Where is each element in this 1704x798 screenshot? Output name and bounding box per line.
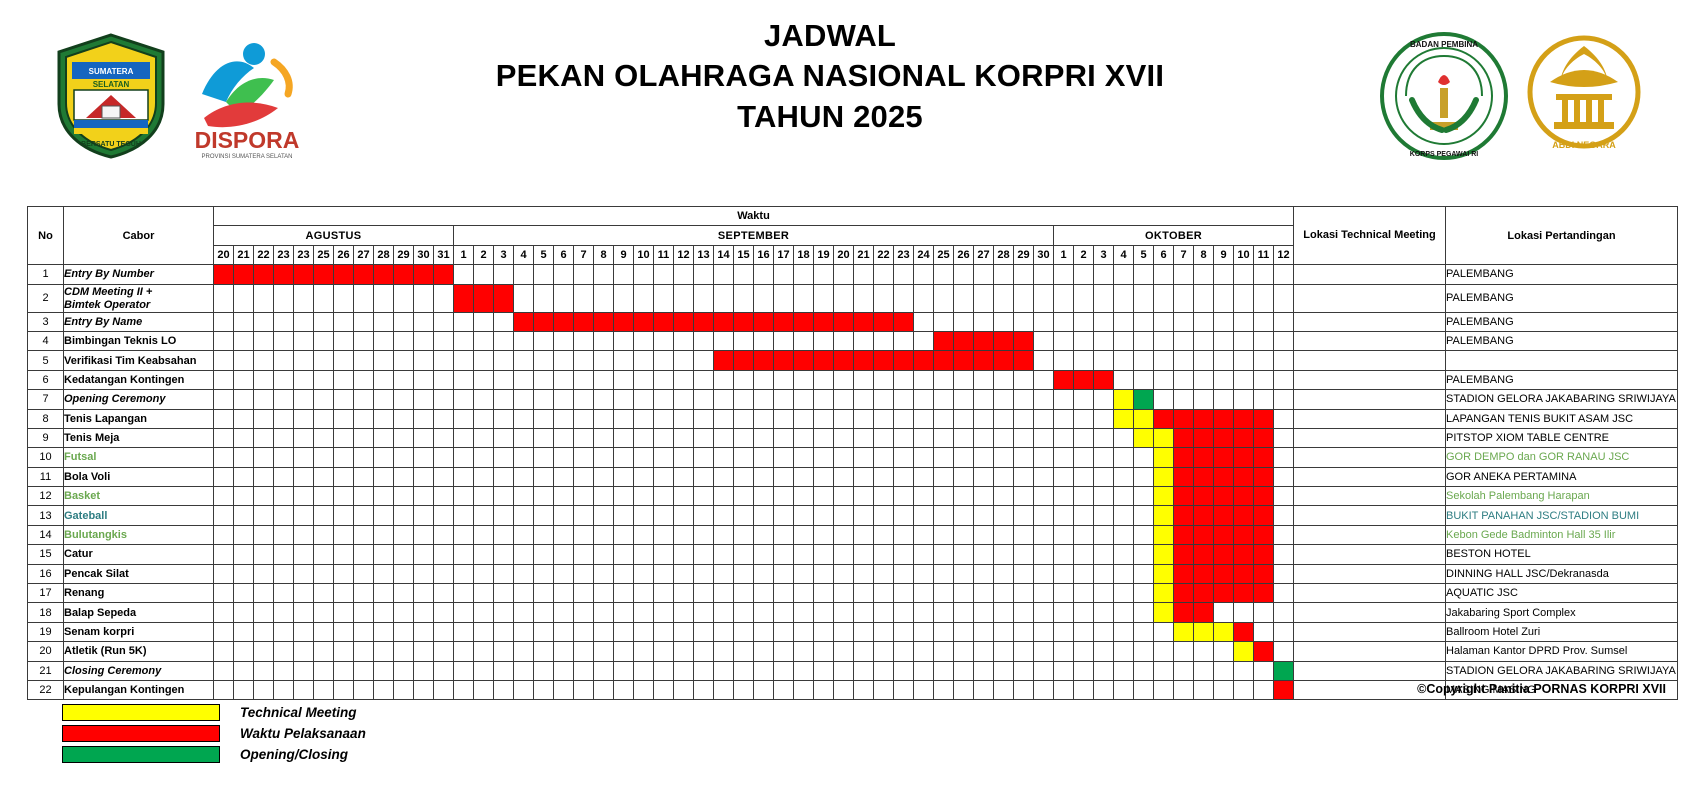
schedule-cell-empty	[914, 545, 934, 564]
schedule-cell-empty	[1094, 331, 1114, 350]
schedule-cell-empty	[414, 467, 434, 486]
table-row: 19 Senam korpriBallroom Hotel Zuri	[28, 622, 1678, 641]
schedule-cell-red	[214, 265, 234, 284]
schedule-cell-yellow	[1134, 409, 1154, 428]
schedule-cell-empty	[594, 448, 614, 467]
schedule-cell-empty	[734, 545, 754, 564]
schedule-cell-empty	[674, 265, 694, 284]
schedule-cell-yellow	[1114, 409, 1134, 428]
cell-lokasi-pertandingan: PALEMBANG	[1446, 284, 1678, 312]
schedule-cell-empty	[734, 525, 754, 544]
svg-text:SELATAN: SELATAN	[93, 80, 130, 89]
schedule-cell-empty	[1114, 351, 1134, 370]
schedule-cell-empty	[1194, 312, 1214, 331]
schedule-cell-empty	[374, 564, 394, 583]
schedule-cell-empty	[334, 467, 354, 486]
table-row: 7Opening CeremonySTADION GELORA JAKABARI…	[28, 390, 1678, 409]
cell-cabor: Tenis Meja	[64, 428, 214, 447]
day-header: 1	[1054, 245, 1074, 264]
schedule-cell-empty	[334, 680, 354, 699]
schedule-cell-empty	[694, 603, 714, 622]
schedule-cell-empty	[214, 390, 234, 409]
table-row: 4Bimbingan Teknis LOPALEMBANG	[28, 331, 1678, 350]
day-header: 12	[674, 245, 694, 264]
schedule-cell-empty	[214, 680, 234, 699]
schedule-cell-empty	[274, 428, 294, 447]
schedule-cell-empty	[234, 370, 254, 389]
schedule-cell-empty	[1034, 603, 1054, 622]
schedule-cell-empty	[934, 564, 954, 583]
cell-cabor: Atletik (Run 5K)	[64, 642, 214, 661]
schedule-cell-empty	[954, 448, 974, 467]
schedule-cell-empty	[854, 265, 874, 284]
schedule-cell-empty	[1094, 351, 1114, 370]
schedule-cell-empty	[294, 622, 314, 641]
schedule-cell-empty	[774, 428, 794, 447]
schedule-cell-yellow	[1154, 603, 1174, 622]
schedule-cell-empty	[634, 622, 654, 641]
schedule-cell-empty	[954, 284, 974, 312]
table-row: 6Kedatangan KontingenPALEMBANG	[28, 370, 1678, 389]
schedule-cell-red	[1194, 448, 1214, 467]
schedule-cell-empty	[414, 312, 434, 331]
cell-lokasi-technical-meeting	[1294, 370, 1446, 389]
schedule-cell-empty	[634, 584, 654, 603]
schedule-cell-empty	[354, 370, 374, 389]
schedule-cell-empty	[814, 265, 834, 284]
cell-lokasi-pertandingan: PALEMBANG	[1446, 331, 1678, 350]
schedule-cell-yellow	[1214, 622, 1234, 641]
schedule-cell-empty	[994, 584, 1014, 603]
day-header: 25	[934, 245, 954, 264]
schedule-cell-empty	[634, 564, 654, 583]
schedule-cell-empty	[894, 506, 914, 525]
abdi-negara-korpri-logo: ABDI NEGARA	[1520, 32, 1648, 160]
schedule-cell-empty	[874, 584, 894, 603]
schedule-cell-empty	[534, 390, 554, 409]
schedule-cell-empty	[754, 467, 774, 486]
schedule-cell-empty	[614, 680, 634, 699]
schedule-cell-empty	[214, 661, 234, 680]
cell-lokasi-pertandingan: PALEMBANG	[1446, 312, 1678, 331]
schedule-cell-empty	[974, 265, 994, 284]
schedule-cell-red	[554, 312, 574, 331]
schedule-cell-empty	[354, 680, 374, 699]
schedule-cell-empty	[234, 525, 254, 544]
schedule-cell-empty	[434, 428, 454, 447]
schedule-cell-empty	[534, 487, 554, 506]
schedule-cell-empty	[1054, 265, 1074, 284]
schedule-cell-empty	[974, 584, 994, 603]
schedule-cell-empty	[334, 370, 354, 389]
schedule-cell-empty	[334, 331, 354, 350]
schedule-cell-empty	[1094, 428, 1114, 447]
schedule-cell-empty	[474, 467, 494, 486]
schedule-cell-empty	[1274, 467, 1294, 486]
cell-lokasi-technical-meeting	[1294, 331, 1446, 350]
schedule-cell-empty	[314, 312, 334, 331]
schedule-cell-empty	[1234, 661, 1254, 680]
schedule-cell-empty	[1094, 284, 1114, 312]
cell-cabor: Renang	[64, 584, 214, 603]
schedule-cell-empty	[814, 331, 834, 350]
day-header: 27	[974, 245, 994, 264]
schedule-cell-empty	[1014, 525, 1034, 544]
schedule-cell-empty	[1054, 448, 1074, 467]
schedule-cell-empty	[834, 390, 854, 409]
schedule-cell-empty	[534, 284, 554, 312]
cell-lokasi-technical-meeting	[1294, 545, 1446, 564]
schedule-cell-empty	[774, 661, 794, 680]
schedule-cell-empty	[974, 487, 994, 506]
schedule-cell-empty	[574, 525, 594, 544]
schedule-cell-empty	[1054, 525, 1074, 544]
day-header: 6	[554, 245, 574, 264]
schedule-cell-red	[594, 312, 614, 331]
schedule-cell-empty	[514, 428, 534, 447]
schedule-cell-empty	[254, 584, 274, 603]
schedule-cell-empty	[994, 370, 1014, 389]
schedule-cell-empty	[854, 331, 874, 350]
schedule-cell-empty	[674, 680, 694, 699]
schedule-cell-empty	[234, 603, 254, 622]
schedule-cell-empty	[654, 642, 674, 661]
schedule-cell-empty	[494, 525, 514, 544]
schedule-cell-empty	[854, 661, 874, 680]
schedule-cell-red	[1254, 584, 1274, 603]
schedule-cell-empty	[334, 351, 354, 370]
day-header: 21	[854, 245, 874, 264]
schedule-cell-empty	[834, 525, 854, 544]
table-body: 1Entry By NumberPALEMBANG2CDM Meeting II…	[28, 265, 1678, 700]
schedule-cell-empty	[934, 603, 954, 622]
schedule-cell-red	[1254, 525, 1274, 544]
schedule-cell-empty	[674, 428, 694, 447]
schedule-cell-empty	[254, 564, 274, 583]
schedule-cell-empty	[1154, 622, 1174, 641]
schedule-cell-red	[1194, 525, 1214, 544]
schedule-cell-empty	[254, 467, 274, 486]
schedule-cell-empty	[554, 409, 574, 428]
schedule-cell-empty	[414, 409, 434, 428]
schedule-cell-empty	[654, 370, 674, 389]
schedule-cell-empty	[874, 428, 894, 447]
schedule-cell-empty	[534, 525, 554, 544]
schedule-cell-empty	[1274, 584, 1294, 603]
schedule-cell-yellow	[1154, 428, 1174, 447]
schedule-cell-empty	[714, 506, 734, 525]
schedule-cell-empty	[534, 545, 554, 564]
day-header: 11	[1254, 245, 1274, 264]
schedule-cell-empty	[1174, 331, 1194, 350]
schedule-cell-empty	[594, 622, 614, 641]
schedule-cell-empty	[1034, 545, 1054, 564]
schedule-cell-empty	[954, 467, 974, 486]
cell-cabor: Basket	[64, 487, 214, 506]
cell-lokasi-pertandingan: GOR ANEKA PERTAMINA	[1446, 467, 1678, 486]
schedule-cell-empty	[414, 584, 434, 603]
schedule-cell-empty	[1034, 351, 1054, 370]
schedule-cell-empty	[454, 467, 474, 486]
schedule-cell-empty	[654, 525, 674, 544]
schedule-cell-empty	[1094, 661, 1114, 680]
schedule-cell-empty	[1014, 467, 1034, 486]
schedule-cell-red	[854, 351, 874, 370]
legend-item: Waktu Pelaksanaan	[62, 723, 366, 743]
day-header: 31	[434, 245, 454, 264]
schedule-cell-empty	[794, 390, 814, 409]
col-header-lokasi-pertandingan: Lokasi Pertandingan	[1446, 207, 1678, 265]
schedule-cell-empty	[954, 428, 974, 447]
schedule-cell-empty	[234, 284, 254, 312]
schedule-cell-empty	[574, 584, 594, 603]
schedule-cell-empty	[234, 680, 254, 699]
schedule-cell-red	[754, 351, 774, 370]
schedule-cell-empty	[494, 409, 514, 428]
schedule-cell-empty	[1174, 284, 1194, 312]
schedule-cell-empty	[714, 265, 734, 284]
cell-lokasi-technical-meeting	[1294, 467, 1446, 486]
schedule-cell-empty	[514, 622, 534, 641]
schedule-cell-red	[1274, 680, 1294, 699]
schedule-cell-empty	[994, 487, 1014, 506]
schedule-cell-empty	[534, 584, 554, 603]
schedule-cell-empty	[1234, 680, 1254, 699]
schedule-cell-empty	[1194, 265, 1214, 284]
schedule-cell-empty	[994, 409, 1014, 428]
schedule-cell-empty	[974, 428, 994, 447]
schedule-cell-empty	[294, 390, 314, 409]
cell-lokasi-technical-meeting	[1294, 622, 1446, 641]
schedule-cell-empty	[1154, 390, 1174, 409]
schedule-cell-empty	[954, 390, 974, 409]
cell-lokasi-pertandingan: Jakabaring Sport Complex	[1446, 603, 1678, 622]
schedule-cell-empty	[714, 661, 734, 680]
schedule-cell-empty	[1274, 390, 1294, 409]
schedule-cell-empty	[694, 284, 714, 312]
schedule-cell-empty	[1094, 467, 1114, 486]
schedule-cell-empty	[454, 642, 474, 661]
table-row: 18Balap SepedaJakabaring Sport Complex	[28, 603, 1678, 622]
schedule-cell-empty	[1034, 409, 1054, 428]
schedule-cell-red	[734, 351, 754, 370]
schedule-cell-empty	[814, 428, 834, 447]
schedule-cell-empty	[654, 390, 674, 409]
schedule-cell-red	[1214, 467, 1234, 486]
schedule-cell-empty	[574, 642, 594, 661]
schedule-cell-empty	[1074, 428, 1094, 447]
title-line-3: TAHUN 2025	[330, 97, 1330, 137]
table-row: 21Closing CeremonySTADION GELORA JAKABAR…	[28, 661, 1678, 680]
schedule-cell-empty	[454, 265, 474, 284]
schedule-cell-empty	[454, 428, 474, 447]
schedule-cell-empty	[1094, 265, 1114, 284]
schedule-cell-empty	[894, 603, 914, 622]
schedule-cell-empty	[814, 370, 834, 389]
schedule-cell-empty	[514, 564, 534, 583]
schedule-cell-empty	[914, 506, 934, 525]
schedule-cell-yellow	[1154, 564, 1174, 583]
schedule-cell-empty	[1074, 525, 1094, 544]
schedule-cell-empty	[1094, 564, 1114, 583]
schedule-cell-empty	[1014, 370, 1034, 389]
schedule-cell-empty	[934, 661, 954, 680]
schedule-cell-empty	[1134, 331, 1154, 350]
schedule-cell-empty	[534, 661, 554, 680]
schedule-cell-empty	[534, 370, 554, 389]
schedule-cell-empty	[874, 370, 894, 389]
schedule-cell-empty	[274, 506, 294, 525]
schedule-cell-empty	[674, 622, 694, 641]
schedule-cell-empty	[514, 331, 534, 350]
schedule-cell-empty	[574, 564, 594, 583]
schedule-cell-empty	[1274, 331, 1294, 350]
schedule-cell-yellow	[1154, 467, 1174, 486]
schedule-cell-empty	[494, 564, 514, 583]
schedule-cell-empty	[474, 409, 494, 428]
schedule-cell-empty	[594, 487, 614, 506]
schedule-cell-empty	[534, 603, 554, 622]
schedule-cell-empty	[634, 467, 654, 486]
schedule-cell-red	[254, 265, 274, 284]
schedule-cell-empty	[674, 603, 694, 622]
schedule-cell-empty	[1134, 370, 1154, 389]
schedule-cell-empty	[1134, 642, 1154, 661]
schedule-cell-empty	[554, 564, 574, 583]
schedule-cell-empty	[854, 487, 874, 506]
schedule-cell-empty	[694, 584, 714, 603]
schedule-cell-empty	[314, 564, 334, 583]
schedule-cell-empty	[354, 428, 374, 447]
schedule-cell-empty	[534, 351, 554, 370]
schedule-cell-empty	[474, 545, 494, 564]
schedule-cell-empty	[934, 265, 954, 284]
schedule-cell-empty	[254, 312, 274, 331]
schedule-cell-empty	[554, 525, 574, 544]
schedule-cell-empty	[394, 467, 414, 486]
schedule-cell-empty	[694, 467, 714, 486]
table-row: 17RenangAQUATIC JSC	[28, 584, 1678, 603]
schedule-cell-empty	[234, 661, 254, 680]
schedule-cell-empty	[514, 487, 534, 506]
schedule-cell-empty	[754, 584, 774, 603]
schedule-cell-empty	[434, 448, 454, 467]
schedule-cell-empty	[994, 680, 1014, 699]
schedule-cell-empty	[494, 370, 514, 389]
schedule-cell-empty	[1174, 370, 1194, 389]
schedule-cell-empty	[574, 622, 594, 641]
schedule-cell-empty	[974, 467, 994, 486]
schedule-cell-green	[1134, 390, 1154, 409]
schedule-cell-empty	[454, 661, 474, 680]
schedule-cell-red	[1014, 351, 1034, 370]
schedule-cell-empty	[374, 506, 394, 525]
schedule-cell-empty	[1194, 661, 1214, 680]
schedule-cell-empty	[274, 448, 294, 467]
cell-cabor: Gateball	[64, 506, 214, 525]
schedule-cell-empty	[1274, 409, 1294, 428]
schedule-cell-empty	[854, 564, 874, 583]
cell-lokasi-pertandingan: AQUATIC JSC	[1446, 584, 1678, 603]
schedule-cell-empty	[714, 487, 734, 506]
schedule-cell-red	[414, 265, 434, 284]
schedule-cell-empty	[814, 584, 834, 603]
schedule-cell-empty	[874, 448, 894, 467]
cell-lokasi-technical-meeting	[1294, 428, 1446, 447]
schedule-cell-empty	[754, 622, 774, 641]
schedule-cell-empty	[494, 448, 514, 467]
schedule-cell-empty	[294, 603, 314, 622]
schedule-cell-red	[874, 351, 894, 370]
cell-lokasi-pertandingan: PALEMBANG	[1446, 265, 1678, 284]
schedule-cell-empty	[554, 265, 574, 284]
schedule-cell-empty	[634, 428, 654, 447]
schedule-cell-red	[1214, 506, 1234, 525]
legend-item: Technical Meeting	[62, 702, 366, 722]
cell-lokasi-technical-meeting	[1294, 448, 1446, 467]
schedule-cell-empty	[534, 642, 554, 661]
schedule-cell-empty	[1274, 622, 1294, 641]
schedule-cell-empty	[354, 642, 374, 661]
schedule-cell-empty	[1074, 642, 1094, 661]
schedule-cell-yellow	[1154, 448, 1174, 467]
schedule-cell-empty	[1114, 506, 1134, 525]
schedule-cell-empty	[214, 331, 234, 350]
schedule-cell-empty	[1114, 448, 1134, 467]
schedule-cell-red	[714, 312, 734, 331]
schedule-cell-empty	[694, 680, 714, 699]
schedule-cell-red	[954, 351, 974, 370]
schedule-cell-empty	[634, 545, 654, 564]
schedule-cell-red	[1234, 487, 1254, 506]
schedule-cell-empty	[374, 584, 394, 603]
schedule-cell-red	[494, 284, 514, 312]
schedule-cell-empty	[374, 351, 394, 370]
schedule-cell-empty	[1074, 331, 1094, 350]
schedule-cell-empty	[214, 428, 234, 447]
schedule-cell-empty	[1194, 680, 1214, 699]
day-header: 10	[1234, 245, 1254, 264]
schedule-cell-red	[714, 351, 734, 370]
schedule-cell-empty	[1094, 506, 1114, 525]
schedule-cell-empty	[834, 622, 854, 641]
day-header: 29	[394, 245, 414, 264]
schedule-cell-empty	[774, 680, 794, 699]
schedule-cell-empty	[374, 409, 394, 428]
schedule-cell-empty	[934, 467, 954, 486]
schedule-cell-empty	[474, 680, 494, 699]
schedule-cell-empty	[634, 284, 654, 312]
schedule-cell-empty	[974, 506, 994, 525]
schedule-cell-empty	[494, 642, 514, 661]
schedule-cell-empty	[514, 525, 534, 544]
schedule-cell-empty	[714, 284, 734, 312]
schedule-cell-empty	[774, 370, 794, 389]
schedule-cell-empty	[614, 428, 634, 447]
schedule-cell-empty	[214, 351, 234, 370]
schedule-cell-empty	[574, 390, 594, 409]
schedule-cell-empty	[734, 622, 754, 641]
schedule-cell-empty	[534, 331, 554, 350]
schedule-cell-empty	[574, 680, 594, 699]
day-header: 23	[274, 245, 294, 264]
schedule-cell-empty	[1114, 525, 1134, 544]
schedule-cell-empty	[1274, 448, 1294, 467]
schedule-cell-empty	[314, 680, 334, 699]
schedule-cell-empty	[674, 467, 694, 486]
schedule-cell-empty	[1174, 312, 1194, 331]
schedule-cell-empty	[314, 506, 334, 525]
